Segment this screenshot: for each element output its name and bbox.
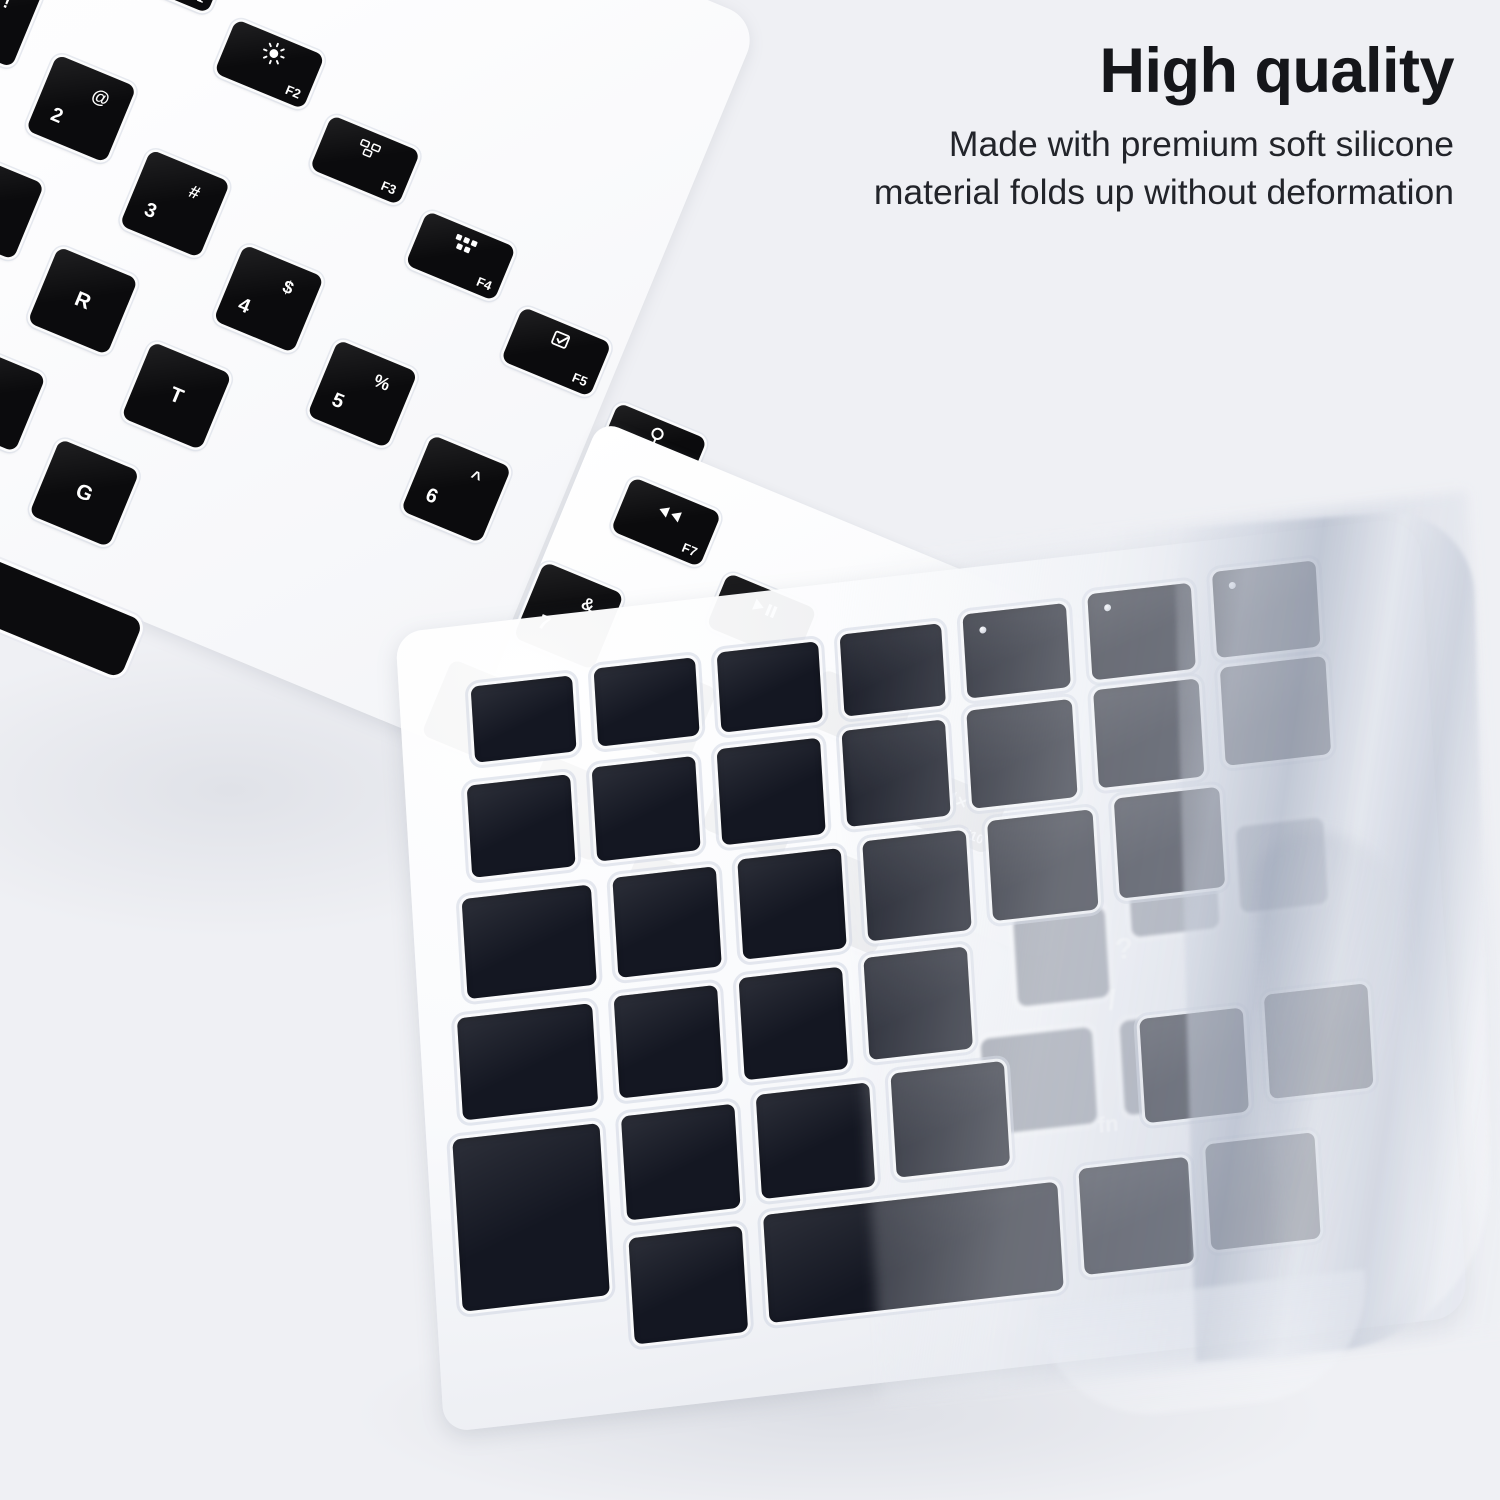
blank-key-r6c3 — [1078, 1157, 1194, 1275]
blank-key-r6c4 — [1205, 1132, 1321, 1250]
ghost-label-slash: / — [1107, 986, 1116, 1015]
blank-key-r4c3 — [739, 967, 849, 1081]
blank-key-r2c3 — [717, 738, 826, 846]
blank-key-r4c1 — [457, 1003, 598, 1120]
subtitle-line-1: Made with premium soft silicone — [574, 121, 1454, 167]
product-marketing-image: esc F1 — [0, 0, 1500, 1500]
key-shift-label-3: # — [186, 182, 202, 202]
brightness-up-icon — [257, 38, 289, 73]
blank-key-r2c7 — [1220, 656, 1331, 766]
blank-key-r2c4 — [841, 719, 950, 827]
key-shift-label-1: ! — [1, 0, 13, 11]
launchpad-icon — [450, 233, 479, 261]
ghost-key-b — [1236, 817, 1329, 913]
blank-key-r4c4 — [863, 946, 973, 1060]
rewind-icon — [654, 501, 685, 528]
blank-key-r2c5 — [966, 699, 1077, 809]
blank-key-r5c6 — [1264, 983, 1374, 1099]
key-label-4: 4 — [235, 295, 253, 318]
blank-key-r1c6 — [1087, 583, 1196, 681]
blank-key-r2c1 — [467, 774, 576, 878]
blank-key-r3c5 — [987, 809, 1098, 921]
key-label-3: 3 — [141, 200, 159, 223]
key-label-5: 5 — [329, 390, 347, 413]
keyboard-cover-folded: ? / fn — [395, 516, 1467, 1432]
key-shift-label-5: % — [371, 371, 393, 394]
key-fn-label-f7: F7 — [680, 541, 699, 559]
blank-key-r2c6 — [1093, 678, 1204, 788]
blank-key-r5c2 — [621, 1104, 741, 1221]
blank-key-r3c6 — [1114, 787, 1225, 899]
blank-key-r1c7 — [1212, 560, 1321, 658]
key-label-t: T — [167, 384, 187, 408]
dictation-icon — [546, 328, 574, 358]
key-label-6: 6 — [423, 485, 441, 508]
key-fn-label-f4: F4 — [475, 275, 494, 293]
key-fn-label-f3: F3 — [379, 179, 398, 197]
blank-key-r1c4 — [840, 623, 946, 717]
ghost-label-question: ? — [1114, 934, 1134, 966]
blank-key-r2c2 — [592, 756, 701, 862]
blank-key-r1c1 — [471, 675, 577, 763]
blank-key-r1c3 — [717, 641, 823, 733]
blank-key-r3c2 — [612, 866, 721, 978]
key-shift-label-4: $ — [280, 277, 296, 297]
mission-control-icon — [354, 138, 382, 166]
key-label-2: 2 — [48, 105, 66, 128]
ghost-label-fn: fn — [1097, 1112, 1119, 1136]
blank-key-r6c1 — [628, 1226, 748, 1345]
key-fn-label-f5: F5 — [570, 371, 589, 389]
blank-key-r1c5 — [962, 603, 1070, 699]
key-shift-label-2: @ — [89, 85, 112, 108]
marketing-copy: High quality Made with premium soft sili… — [574, 36, 1454, 215]
blank-key-r5c1 — [452, 1123, 610, 1312]
key-label-g: G — [73, 480, 96, 506]
blank-key-r5c3 — [756, 1082, 876, 1199]
blank-key-r5c5 — [1139, 1008, 1249, 1124]
blank-key-r3c4 — [862, 830, 971, 942]
blank-key-r3c1 — [462, 885, 597, 1000]
subtitle-line-2: material folds up without deformation — [574, 169, 1454, 215]
key-shift-label-6: ^ — [467, 467, 484, 488]
key-fn-label-f1: F1 — [188, 0, 207, 5]
ghost-key-question — [1013, 907, 1110, 1007]
key-fn-label-f2: F2 — [284, 83, 303, 101]
blank-key-r5c4 — [890, 1061, 1010, 1178]
key-label-r: R — [72, 288, 94, 313]
blank-key-r1c2 — [594, 657, 700, 747]
page-title: High quality — [574, 36, 1454, 107]
blank-key-r3c3 — [737, 848, 846, 960]
blank-key-r4c2 — [614, 985, 724, 1099]
